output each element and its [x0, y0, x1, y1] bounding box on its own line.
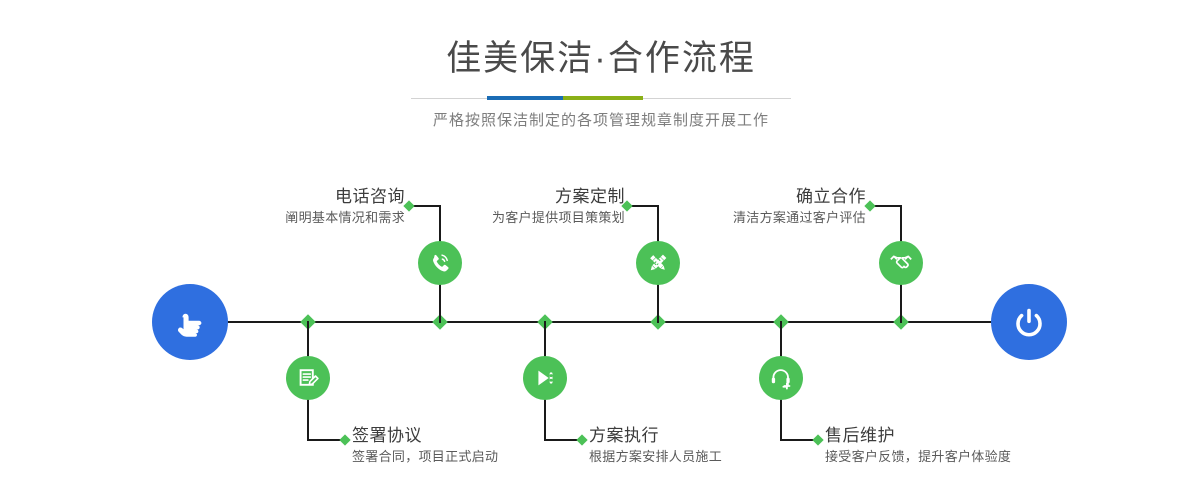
connector-tip-2: [339, 434, 350, 445]
step-title-5: 售后维护: [825, 425, 1145, 447]
step-icon-bubble-2[interactable]: [286, 356, 330, 400]
step-icon-bubble-3[interactable]: [636, 241, 680, 285]
title-divider: [411, 96, 791, 100]
pointing-hand-icon: [168, 300, 212, 344]
end-node: [991, 284, 1067, 360]
divider-segment-blue: [487, 96, 563, 100]
header: 佳美保洁·合作流程 严格按照保洁制定的各项管理规章制度开展工作: [0, 0, 1202, 131]
step-desc-5: 接受客户反馈，提升客户体验度: [825, 447, 1145, 467]
document-sign-icon: [295, 365, 321, 391]
divider-segment-green: [563, 96, 643, 100]
step-title-6: 确立合作: [585, 186, 866, 208]
step-icon-bubble-1[interactable]: [418, 241, 462, 285]
handshake-icon: [888, 250, 914, 276]
connector-tip-6: [864, 200, 875, 211]
page-title: 佳美保洁·合作流程: [0, 38, 1202, 80]
step-desc-3: 为客户提供项目策策划: [340, 208, 625, 228]
page-subtitle: 严格按照保洁制定的各项管理规章制度开展工作: [0, 111, 1202, 131]
headset-plus-icon: [768, 365, 794, 391]
play-skip-icon: [532, 365, 558, 391]
flow-diagram: 佳美保洁·合作流程 严格按照保洁制定的各项管理规章制度开展工作: [0, 0, 1202, 502]
phone-call-icon: [427, 250, 453, 276]
step-title-3: 方案定制: [340, 186, 625, 208]
power-icon: [1007, 300, 1051, 344]
pencil-ruler-icon: [645, 250, 671, 276]
step-icon-bubble-6[interactable]: [879, 241, 923, 285]
step-label-6: 确立合作 清洁方案通过客户评估: [585, 186, 866, 228]
step-label-5: 售后维护 接受客户反馈，提升客户体验度: [825, 425, 1145, 467]
step-icon-bubble-4[interactable]: [523, 356, 567, 400]
step-icon-bubble-5[interactable]: [759, 356, 803, 400]
step-label-3: 方案定制 为客户提供项目策策划: [340, 186, 625, 228]
step-desc-6: 清洁方案通过客户评估: [585, 208, 866, 228]
start-node: [152, 284, 228, 360]
